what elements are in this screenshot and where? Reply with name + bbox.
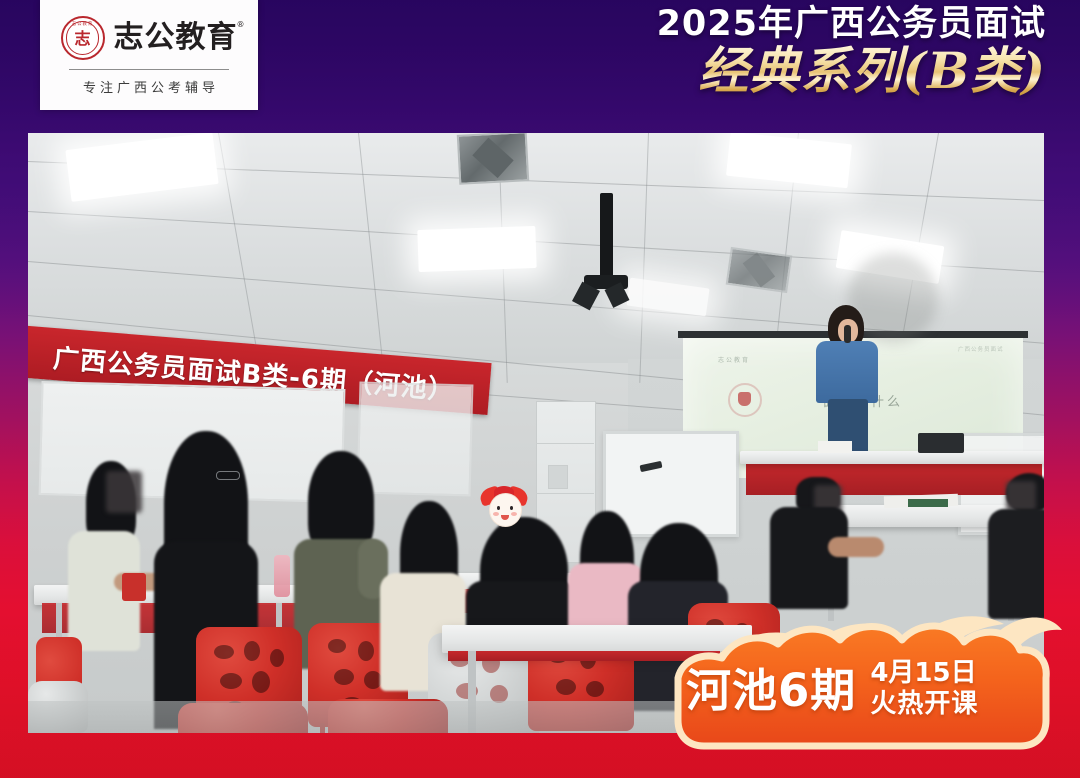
slide-corner-tag-left: 志公教育: [718, 355, 750, 364]
sticker-cheek: [493, 512, 499, 516]
poster-root: 志公教育 志 志公教育 ® 专注广西公考辅导 2025年广西公务员面试 经典系列…: [0, 0, 1080, 778]
course-badge[interactable]: 河池6期 4月15日 火热开课: [648, 608, 1068, 758]
cabinet-small: [548, 465, 568, 489]
face-blur: [106, 471, 142, 513]
headline-line-2: 经典系列(B类): [657, 45, 1046, 98]
seal-character: 志: [74, 31, 90, 47]
registered-mark: ®: [237, 21, 246, 29]
student-torso: [988, 509, 1044, 619]
face-blur: [1006, 481, 1036, 511]
projector-pole: [600, 193, 613, 279]
chair-hole: [358, 641, 374, 661]
sticker-eye: [497, 506, 500, 510]
badge-open-text: 火热开课: [870, 690, 978, 719]
brand-tagline: 专注广西公考辅导: [79, 77, 219, 96]
podium-top: [740, 451, 1044, 464]
table-book: [908, 499, 948, 507]
badge-main-text: 河池6期: [686, 668, 856, 713]
podium-paper: [818, 441, 852, 453]
ceiling-vent-icon: [457, 133, 530, 185]
chair-hole: [244, 641, 260, 661]
chair-hole: [556, 679, 576, 695]
student-torso: [770, 507, 848, 609]
chair-hole: [214, 645, 234, 659]
chair-hole: [252, 671, 270, 693]
presenter-torso: [816, 341, 878, 403]
seal-arc-text: 志公教育: [63, 21, 103, 27]
seal-icon: 志公教育 志: [61, 16, 105, 60]
red-cup: [122, 573, 146, 601]
brand-logo-box: 志公教育 志 志公教育 ® 专注广西公考辅导: [40, 0, 258, 110]
cabinet-seam: [536, 443, 594, 444]
slide-logo-icon: [728, 383, 762, 417]
ceiling-light: [417, 226, 536, 272]
brand-name: 志公教育 ®: [114, 23, 238, 53]
slide-corner-tag-right: 广西公务员面试: [958, 345, 1004, 353]
cabinet-seam: [536, 493, 594, 494]
headline-block: 2025年广西公务员面试 经典系列(B类): [657, 6, 1046, 97]
brand-logo-row: 志公教育 志 志公教育 ®: [61, 16, 238, 60]
badge-text-group: 河池6期 4月15日 火热开课: [648, 608, 1068, 758]
logo-divider: [69, 69, 229, 70]
chair-hole: [270, 649, 284, 667]
podium-skirt: [746, 461, 1042, 495]
badge-date-text: 4月15日: [870, 659, 978, 688]
badge-side-group: 4月15日 火热开课: [870, 659, 978, 719]
whiteboard-left-2: [357, 382, 474, 497]
student-arm: [828, 537, 884, 557]
sticker-cheek: [511, 512, 517, 516]
chair-hole: [328, 639, 346, 653]
eyeglasses-icon: [216, 471, 240, 480]
headline-line-1: 2025年广西公务员面试: [657, 6, 1046, 43]
chair-hole: [586, 681, 604, 697]
presenter-mic: [844, 325, 851, 343]
emoji-sticker: [480, 488, 528, 528]
chair-hole: [220, 673, 242, 689]
laptop: [918, 433, 964, 453]
water-bottle: [274, 555, 290, 597]
chair-hole: [334, 669, 354, 685]
brand-name-text: 志公教育: [114, 20, 238, 55]
sticker-eye: [510, 506, 513, 510]
sticker-face: [489, 493, 522, 527]
sticker-mouth: [501, 515, 509, 520]
